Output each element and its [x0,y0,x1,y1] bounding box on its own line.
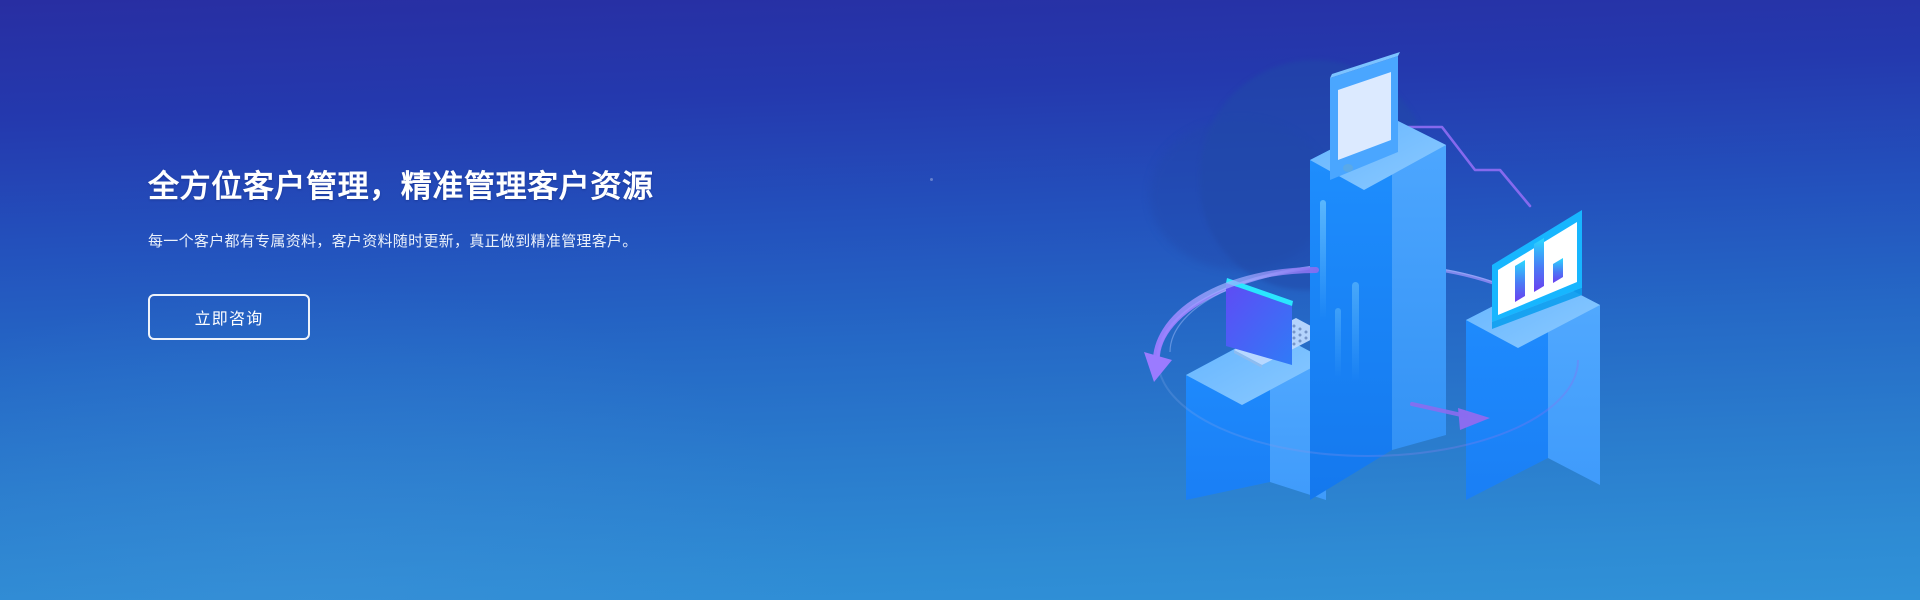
consult-now-button[interactable]: 立即咨询 [148,294,310,340]
hero-subtitle: 每一个客户都有专属资料，客户资料随时更新，真正做到精准管理客户。 [148,230,743,255]
hero-copy-block: 全方位客户管理，精准管理客户资源 每一个客户都有专属资料，客户资料随时更新，真正… [148,168,788,340]
background-sparkle-dot [930,178,933,181]
page-title: 全方位客户管理，精准管理客户资源 [148,168,788,207]
arrow-down-left-icon [1144,352,1172,382]
hero-banner: 全方位客户管理，精准管理客户资源 每一个客户都有专属资料，客户资料随时更新，真正… [0,0,1920,600]
hero-illustration [1130,30,1600,500]
